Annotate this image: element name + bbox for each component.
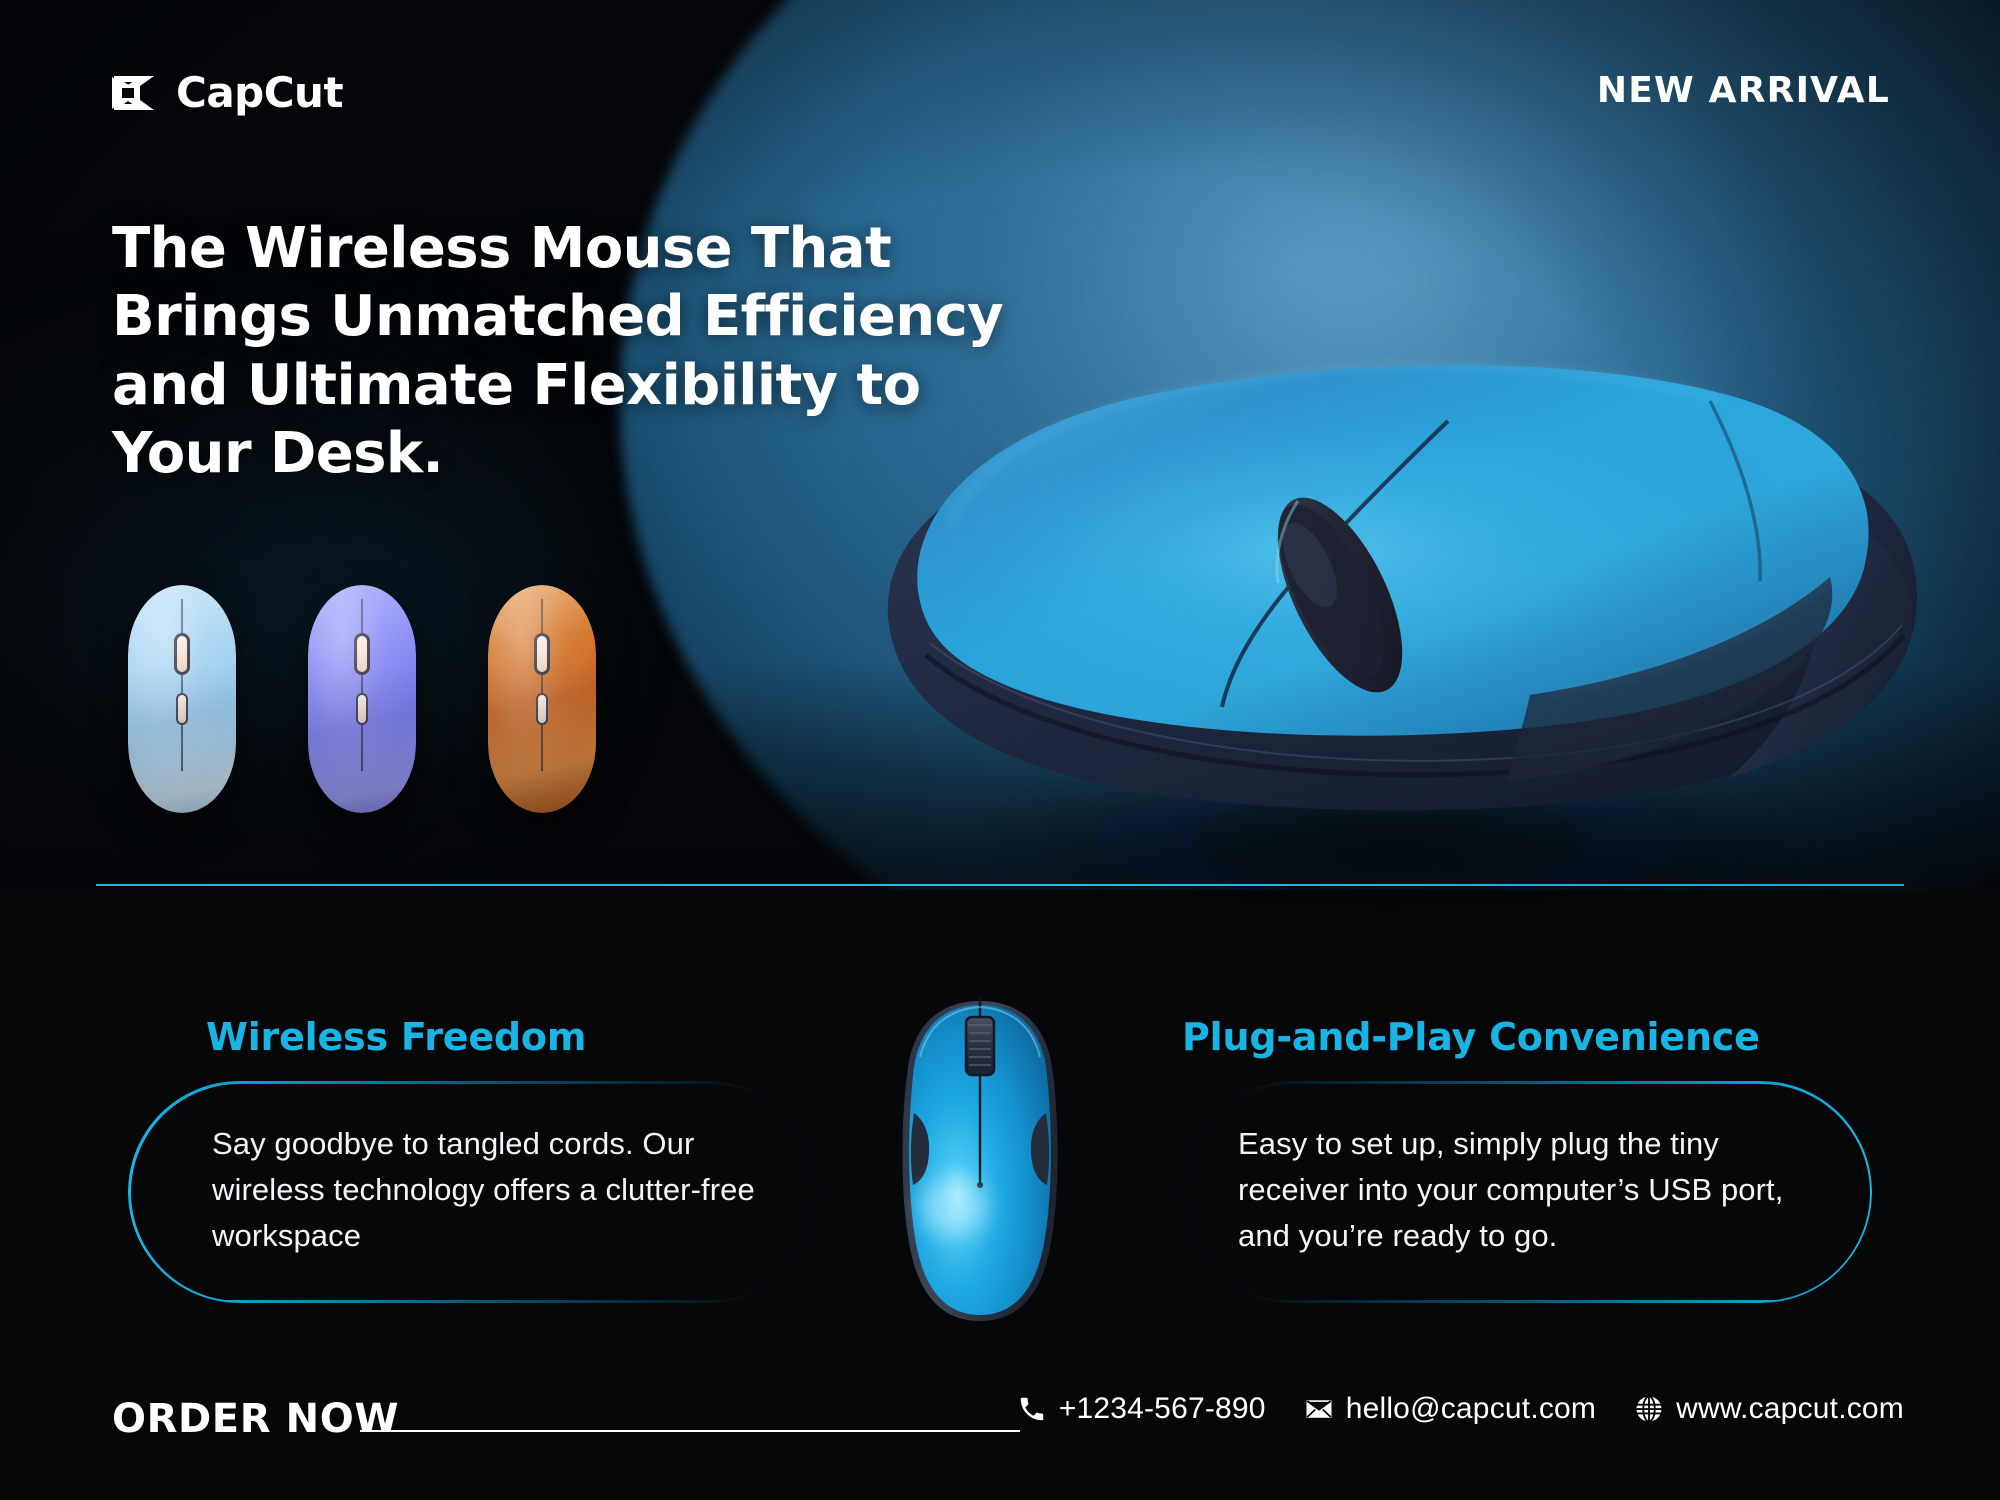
color-variant-list [128,585,596,813]
headline-line-2: Brings Unmatched Efficiency [112,283,1012,351]
poster-canvas: CapCut NEW ARRIVAL The Wireless Mouse Th… [0,0,2000,1500]
swatch-gloss [308,585,416,813]
contact-website[interactable]: www.capcut.com [1634,1392,1904,1426]
email-address: hello@capcut.com [1346,1392,1596,1426]
center-product-image [880,995,1080,1325]
feature-body-text: Say goodbye to tangled cords. Our wirele… [212,1121,762,1259]
swatch-gloss [488,585,596,813]
feature-body-text: Easy to set up, simply plug the tiny rec… [1238,1121,1788,1259]
contact-email[interactable]: hello@capcut.com [1304,1392,1596,1426]
phone-number: +1234-567-890 [1059,1392,1266,1426]
feature-title: Plug-and-Play Convenience [1182,1015,1872,1059]
headline-line-3: and Ultimate Flexibility to [112,352,1012,420]
brand-name: CapCut [176,68,343,117]
headline-line-1: The Wireless Mouse That [112,215,1012,283]
feature-title: Wireless Freedom [128,1015,818,1059]
capcut-logo-icon [110,72,162,114]
website-url: www.capcut.com [1676,1392,1904,1426]
phone-icon [1017,1394,1047,1424]
footer: ORDER NOW +1234-567-890 hello@capcut.com [0,1390,2000,1500]
feature-body-box: Easy to set up, simply plug the tiny rec… [1182,1081,1872,1303]
feature-plug-and-play: Plug-and-Play Convenience Easy to set up… [1182,1015,1872,1303]
headline-line-4: Your Desk. [112,420,1012,488]
contact-list: +1234-567-890 hello@capcut.com [1017,1392,1904,1426]
globe-icon [1634,1394,1664,1424]
contact-phone[interactable]: +1234-567-890 [1017,1392,1266,1426]
color-swatch-light-blue[interactable] [128,585,236,813]
order-now-rule [360,1430,1020,1432]
new-arrival-badge: NEW ARRIVAL [1597,70,1890,111]
brand-logo[interactable]: CapCut [110,68,343,117]
envelope-icon [1304,1394,1334,1424]
color-swatch-copper[interactable] [488,585,596,813]
color-swatch-periwinkle[interactable] [308,585,416,813]
hero-headline: The Wireless Mouse That Brings Unmatched… [112,215,1012,488]
swatch-gloss [128,585,236,813]
feature-wireless-freedom: Wireless Freedom Say goodbye to tangled … [128,1015,818,1303]
feature-body-box: Say goodbye to tangled cords. Our wirele… [128,1081,818,1303]
section-divider [96,884,1904,886]
order-now-cta[interactable]: ORDER NOW [112,1396,399,1442]
